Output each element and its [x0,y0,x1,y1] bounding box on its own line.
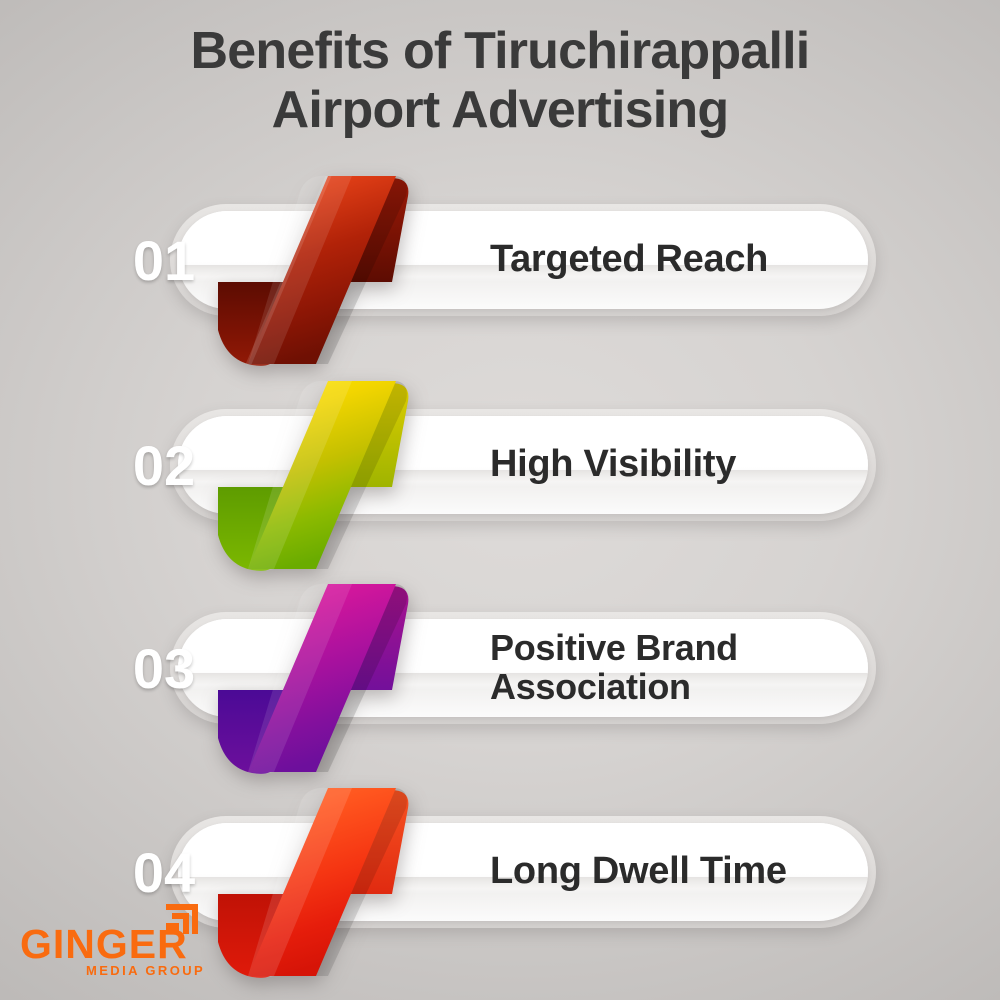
brand-logo[interactable]: GINGER MEDIA GROUP [16,906,216,978]
logo-tagline: MEDIA GROUP [86,964,205,977]
logo-wordmark: GINGER [20,924,188,965]
ribbon-banner-1 [196,170,526,370]
benefit-label-3: Positive Brand Association [490,619,850,717]
benefit-row-3: Positive Brand Association [0,578,1000,778]
ribbon-banner-3 [196,578,526,778]
page-title-line-1: Benefits of Tiruchirappalli [0,22,1000,81]
page-title-line-2: Airport Advertising [0,81,1000,140]
page-title: Benefits of Tiruchirappalli Airport Adve… [0,22,1000,141]
benefit-label-2: High Visibility [490,416,850,514]
benefit-row-2: High Visibility [0,375,1000,575]
benefit-label-3-line-2: Association [490,668,738,707]
ribbon-banner-4 [196,782,526,982]
benefit-row-1: Targeted Reach [0,170,1000,370]
benefit-label-3-line-1: Positive Brand [490,629,738,668]
benefit-label-1: Targeted Reach [490,211,850,309]
benefit-label-4: Long Dwell Time [490,823,850,921]
ribbon-banner-2 [196,375,526,575]
infographic-poster: Benefits of Tiruchirappalli Airport Adve… [0,0,1000,1000]
